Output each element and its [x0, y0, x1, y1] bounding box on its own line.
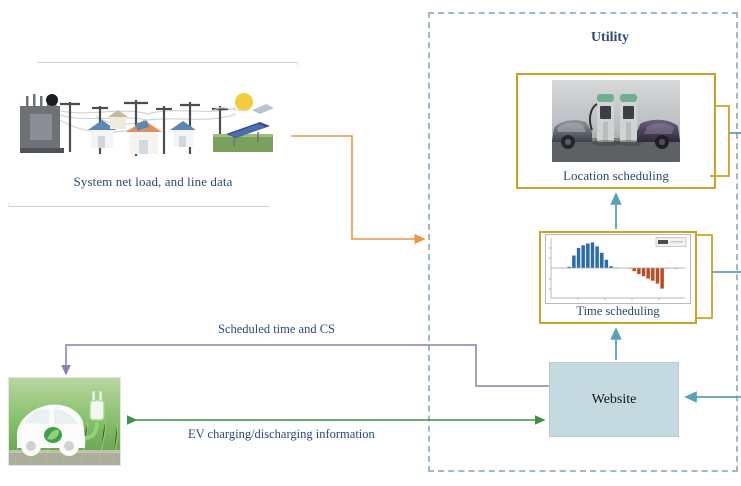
website-label: Website: [592, 392, 637, 408]
system-data-caption: System net load, and line data: [38, 174, 268, 190]
location-scheduling-caption: Location scheduling: [518, 168, 714, 184]
system-data-panel: System net load, and line data: [8, 62, 298, 207]
time-scheduling-chart: [545, 234, 691, 304]
website-box[interactable]: Website: [549, 362, 679, 437]
chart-legend: [656, 238, 686, 247]
house-icon: [170, 121, 196, 147]
diagram-canvas: System net load, and line data Utility L…: [0, 0, 741, 486]
edge-label-scheduled-time-and-cs: Scheduled time and CS: [218, 322, 335, 337]
electric-car-photo: [8, 377, 121, 466]
ev-charging-station-photo: [552, 80, 680, 162]
substation-icon: [20, 94, 64, 153]
edge-label-ev-charging-info: EV charging/discharging information: [188, 427, 375, 442]
time-scheduling-caption: Time scheduling: [541, 304, 695, 319]
solar-panel-icon: [213, 93, 274, 152]
house-icon: [126, 120, 162, 154]
edge-system-data-to-utility: [291, 136, 424, 239]
house-icon: [108, 110, 128, 129]
utility-title: Utility: [540, 30, 680, 46]
